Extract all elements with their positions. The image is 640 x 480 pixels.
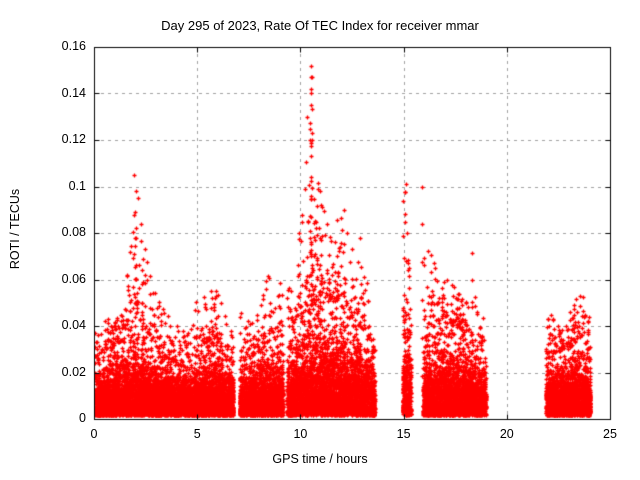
- plot-page: Day 295 of 2023, Rate Of TEC Index for r…: [0, 0, 640, 480]
- y-tick-label: 0.02: [34, 365, 86, 379]
- y-tick-label: 0.14: [34, 86, 86, 100]
- x-tick-label: 0: [74, 427, 114, 441]
- x-tick-label: 5: [177, 427, 217, 441]
- y-tick-label: 0.12: [34, 132, 86, 146]
- x-tick-label: 25: [590, 427, 630, 441]
- x-axis-label: GPS time / hours: [0, 452, 640, 466]
- x-tick-label: 10: [280, 427, 320, 441]
- y-tick-label: 0.06: [34, 272, 86, 286]
- y-tick-label: 0.1: [34, 179, 86, 193]
- y-axis-label: ROTI / TECUs: [8, 174, 22, 284]
- y-tick-label: 0.08: [34, 225, 86, 239]
- y-tick-label: 0: [34, 411, 86, 425]
- scatter-plot-canvas: [0, 0, 640, 480]
- y-tick-label: 0.16: [34, 39, 86, 53]
- x-tick-label: 15: [384, 427, 424, 441]
- x-tick-label: 20: [487, 427, 527, 441]
- y-axis-label-container: ROTI / TECUs: [4, 0, 26, 480]
- y-tick-label: 0.04: [34, 318, 86, 332]
